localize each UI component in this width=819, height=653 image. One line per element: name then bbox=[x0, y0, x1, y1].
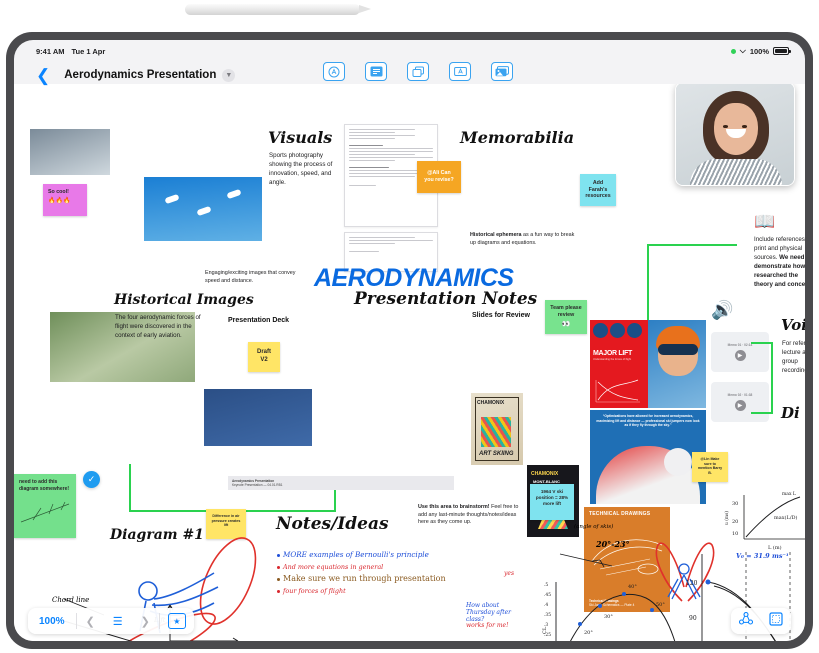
draft-v2-text: Draft V2 bbox=[253, 349, 275, 365]
major-lift-subtitle: Understanding the forces of flight bbox=[593, 358, 645, 361]
technical-drawings-title: TECHNICAL DRAWINGS bbox=[589, 511, 650, 517]
svg-text:10: 10 bbox=[732, 531, 738, 537]
reply-answer: works for me! bbox=[466, 622, 509, 629]
list-item: MORE examples of Bernoulli's principle bbox=[277, 550, 507, 559]
team-review-note[interactable]: Team please review 👀 bbox=[545, 300, 587, 334]
lift-drag-inset-chart: 302010 u (ms) L (m) max(L/D) max L bbox=[724, 489, 805, 551]
note-text-1: And more equations in general bbox=[283, 563, 383, 571]
team-review-text: Team please review bbox=[550, 305, 581, 318]
svg-text:.5: .5 bbox=[544, 583, 548, 588]
chevron-down-icon[interactable]: ▼ bbox=[222, 69, 235, 82]
canvas-tools-toolbar bbox=[731, 608, 791, 634]
svg-text:.35: .35 bbox=[544, 613, 551, 618]
svg-text:20°: 20° bbox=[584, 630, 593, 636]
svg-text:40°: 40° bbox=[628, 584, 637, 590]
carl-revise-note-text: @Ali Can you revise? bbox=[422, 170, 456, 184]
connector-audio-v bbox=[771, 342, 773, 414]
connector-right-v bbox=[647, 244, 649, 320]
audio-player-2[interactable]: Memo 02 · 01:38 ▶ bbox=[711, 382, 769, 422]
status-bar: 9:41 AM Tue 1 Apr ⌵ 100% bbox=[14, 40, 805, 60]
fire-emoji: 🔥🔥🔥 bbox=[48, 198, 82, 206]
green-privacy-dot-icon bbox=[731, 49, 736, 54]
list-item: Make sure we run through presentation bbox=[277, 574, 507, 583]
svg-text:30: 30 bbox=[732, 501, 738, 507]
star-favorite-icon[interactable]: ★ bbox=[168, 613, 186, 629]
visuals-body: Sports photography showing the process o… bbox=[269, 152, 343, 188]
svg-text:90: 90 bbox=[689, 615, 697, 622]
apple-pencil bbox=[185, 4, 360, 15]
play-icon[interactable]: ▶ bbox=[735, 350, 746, 361]
ski-jump-photo-1[interactable] bbox=[30, 129, 110, 175]
ipad-screen: 9:41 AM Tue 1 Apr ⌵ 100% ❮ Aerodynamics … bbox=[14, 40, 805, 641]
list-view-icon[interactable]: ☰ bbox=[104, 615, 132, 628]
note-text-0: MORE examples of Bernoulli's principle bbox=[283, 550, 429, 559]
svg-text:30°: 30° bbox=[604, 614, 613, 620]
instruction-bold: Use this area to brainstorm! bbox=[418, 504, 490, 510]
voice-heading-2: Di bbox=[781, 404, 800, 422]
status-time: 9:41 AM bbox=[36, 47, 64, 56]
open-book-icon: 📖 bbox=[754, 212, 775, 232]
photo-caption: Engaging/exciting images that convey spe… bbox=[205, 270, 310, 285]
quote-slide[interactable]: “Optimizations have allowed for increase… bbox=[590, 410, 706, 504]
add-diagram-text: need to add this diagram somewhere! bbox=[19, 479, 69, 492]
wifi-icon: ⌵ bbox=[740, 46, 746, 56]
velocity-annotation: V₀ = 31.9 ms⁻¹ bbox=[736, 552, 789, 560]
svg-text:20: 20 bbox=[732, 519, 738, 525]
svg-text:CL: CL bbox=[542, 626, 548, 634]
chamonix-poster-1[interactable]: CHAMONIX ART SKIING bbox=[471, 393, 523, 465]
memorabilia-caption: Historical ephemera as a fun way to brea… bbox=[470, 232, 580, 247]
approved-check-badge[interactable]: ✓ bbox=[83, 471, 100, 488]
facetime-video-tile[interactable] bbox=[675, 84, 795, 186]
brainstorm-instruction: Use this area to brainstorm! Feel free t… bbox=[418, 504, 526, 527]
zoom-level[interactable]: 100% bbox=[28, 616, 76, 627]
list-item: four forces of flight bbox=[277, 587, 507, 595]
battery-percent: 100% bbox=[750, 47, 769, 56]
carl-revise-note[interactable]: @Ali Can you revise? bbox=[417, 161, 461, 193]
sorry-note-text: @Lin Make sure to mention Barry B. bbox=[698, 457, 722, 475]
eyes-emoji: 👀 bbox=[550, 320, 582, 329]
memorabilia-heading: Memorabilia bbox=[460, 128, 574, 147]
speaker-volume-icon: 🔊 bbox=[711, 300, 733, 321]
deck-footer: Aerodynamics Presentation Keynote Presen… bbox=[228, 476, 454, 490]
farah-note-text: Add Farah's resources bbox=[585, 180, 611, 201]
whiteboard-canvas[interactable]: So cool! 🔥🔥🔥 Engaging/exciting images th… bbox=[14, 84, 805, 641]
previous-button[interactable]: ❮ bbox=[77, 615, 104, 628]
back-button[interactable]: ❮ bbox=[36, 67, 50, 84]
canvas-subtitle: Presentation Notes bbox=[354, 289, 537, 309]
svg-text:.45: .45 bbox=[544, 593, 551, 598]
connector-audio-h1 bbox=[751, 342, 773, 344]
svg-text:u (ms): u (ms) bbox=[725, 511, 730, 525]
chord-line-label: Chord line bbox=[52, 596, 89, 604]
audio-label-1: Memo 01 · 02:14 bbox=[728, 343, 753, 347]
svg-text:.4: .4 bbox=[544, 603, 548, 608]
node-graph-icon[interactable] bbox=[731, 612, 761, 630]
add-farahs-resources-note[interactable]: Add Farah's resources bbox=[580, 174, 616, 206]
note-text-2: Make sure we run through presentation bbox=[283, 574, 446, 583]
visuals-heading: Visuals bbox=[268, 128, 332, 147]
v-ski-text: 1964 V ski position = 28% more lift bbox=[536, 489, 568, 506]
grid-square-icon[interactable] bbox=[761, 612, 791, 631]
connector-line-deck-v2 bbox=[129, 464, 131, 512]
angle-of-skis-label: (angle of skis) bbox=[574, 524, 613, 530]
connector-right-h bbox=[647, 244, 737, 246]
references-text: Include references, print and physical s… bbox=[754, 236, 805, 290]
historical-images-body: The four aerodynamic forces of flight we… bbox=[115, 314, 201, 341]
notes-ideas-heading: Notes/Ideas bbox=[276, 514, 389, 534]
reply-question: How about Thursday after class? bbox=[466, 602, 528, 623]
so-cool-note-text: So cool! bbox=[48, 189, 82, 196]
audio-label-2: Memo 02 · 01:38 bbox=[728, 393, 753, 397]
svg-text:L (m): L (m) bbox=[768, 544, 782, 551]
connector-line-deck bbox=[334, 490, 336, 512]
document-title: Aerodynamics Presentation bbox=[64, 69, 216, 81]
draft-v2-note[interactable]: Draft V2 bbox=[248, 342, 280, 372]
battery-icon bbox=[773, 47, 789, 55]
major-lift-slide[interactable]: MAJOR LIFT Understanding the forces of f… bbox=[590, 320, 706, 408]
pressure-note-text: Difference in air pressure creates lift bbox=[212, 514, 241, 527]
svg-text:max L: max L bbox=[782, 491, 796, 497]
slides-for-review-label: Slides for Review bbox=[472, 312, 530, 319]
list-item: And more equations in general bbox=[277, 563, 507, 571]
notes-list: MORE examples of Bernoulli's principle A… bbox=[277, 550, 507, 598]
ipad-device: 9:41 AM Tue 1 Apr ⌵ 100% ❮ Aerodynamics … bbox=[6, 32, 813, 649]
play-icon[interactable]: ▶ bbox=[735, 400, 746, 411]
quote-text: “Optimizations have allowed for increase… bbox=[590, 410, 706, 432]
presentation-deck-label: Presentation Deck bbox=[228, 317, 289, 324]
svg-text:max(L/D): max(L/D) bbox=[774, 514, 798, 521]
reply-yes: yes bbox=[504, 570, 514, 577]
next-button[interactable]: ❯ bbox=[132, 615, 159, 628]
major-lift-title: MAJOR LIFT bbox=[593, 350, 645, 357]
sorry-note[interactable]: @Lin Make sure to mention Barry B. bbox=[692, 452, 728, 482]
voice-body: For reference, lecture and group recordi… bbox=[782, 340, 805, 376]
deck-footer-sub: Keynote Presentation — 04.01.RB1 bbox=[232, 483, 283, 487]
so-cool-note[interactable]: So cool! 🔥🔥🔥 bbox=[43, 184, 87, 216]
connector-audio-h2 bbox=[751, 412, 773, 414]
audio-player-1[interactable]: Memo 01 · 02:14 ▶ bbox=[711, 332, 769, 372]
note-text-3: four forces of flight bbox=[283, 587, 346, 595]
voice-heading: Voice bbox=[781, 316, 805, 334]
zoom-toolbar: 100% ❮ ☰ ❯ ★ bbox=[28, 608, 194, 634]
memorabilia-caption-bold: Historical ephemera bbox=[470, 232, 522, 238]
ski-jump-photo-2[interactable] bbox=[144, 177, 262, 241]
navigation-bar: ❮ Aerodynamics Presentation ▼ bbox=[14, 60, 805, 90]
blue-abstract-photo[interactable] bbox=[204, 389, 312, 446]
historical-images-heading: Historical Images bbox=[114, 292, 254, 308]
status-date: Tue 1 Apr bbox=[71, 47, 105, 56]
v-ski-position-note[interactable]: 1964 V ski position = 28% more lift bbox=[530, 484, 574, 520]
svg-text:120: 120 bbox=[686, 580, 698, 587]
